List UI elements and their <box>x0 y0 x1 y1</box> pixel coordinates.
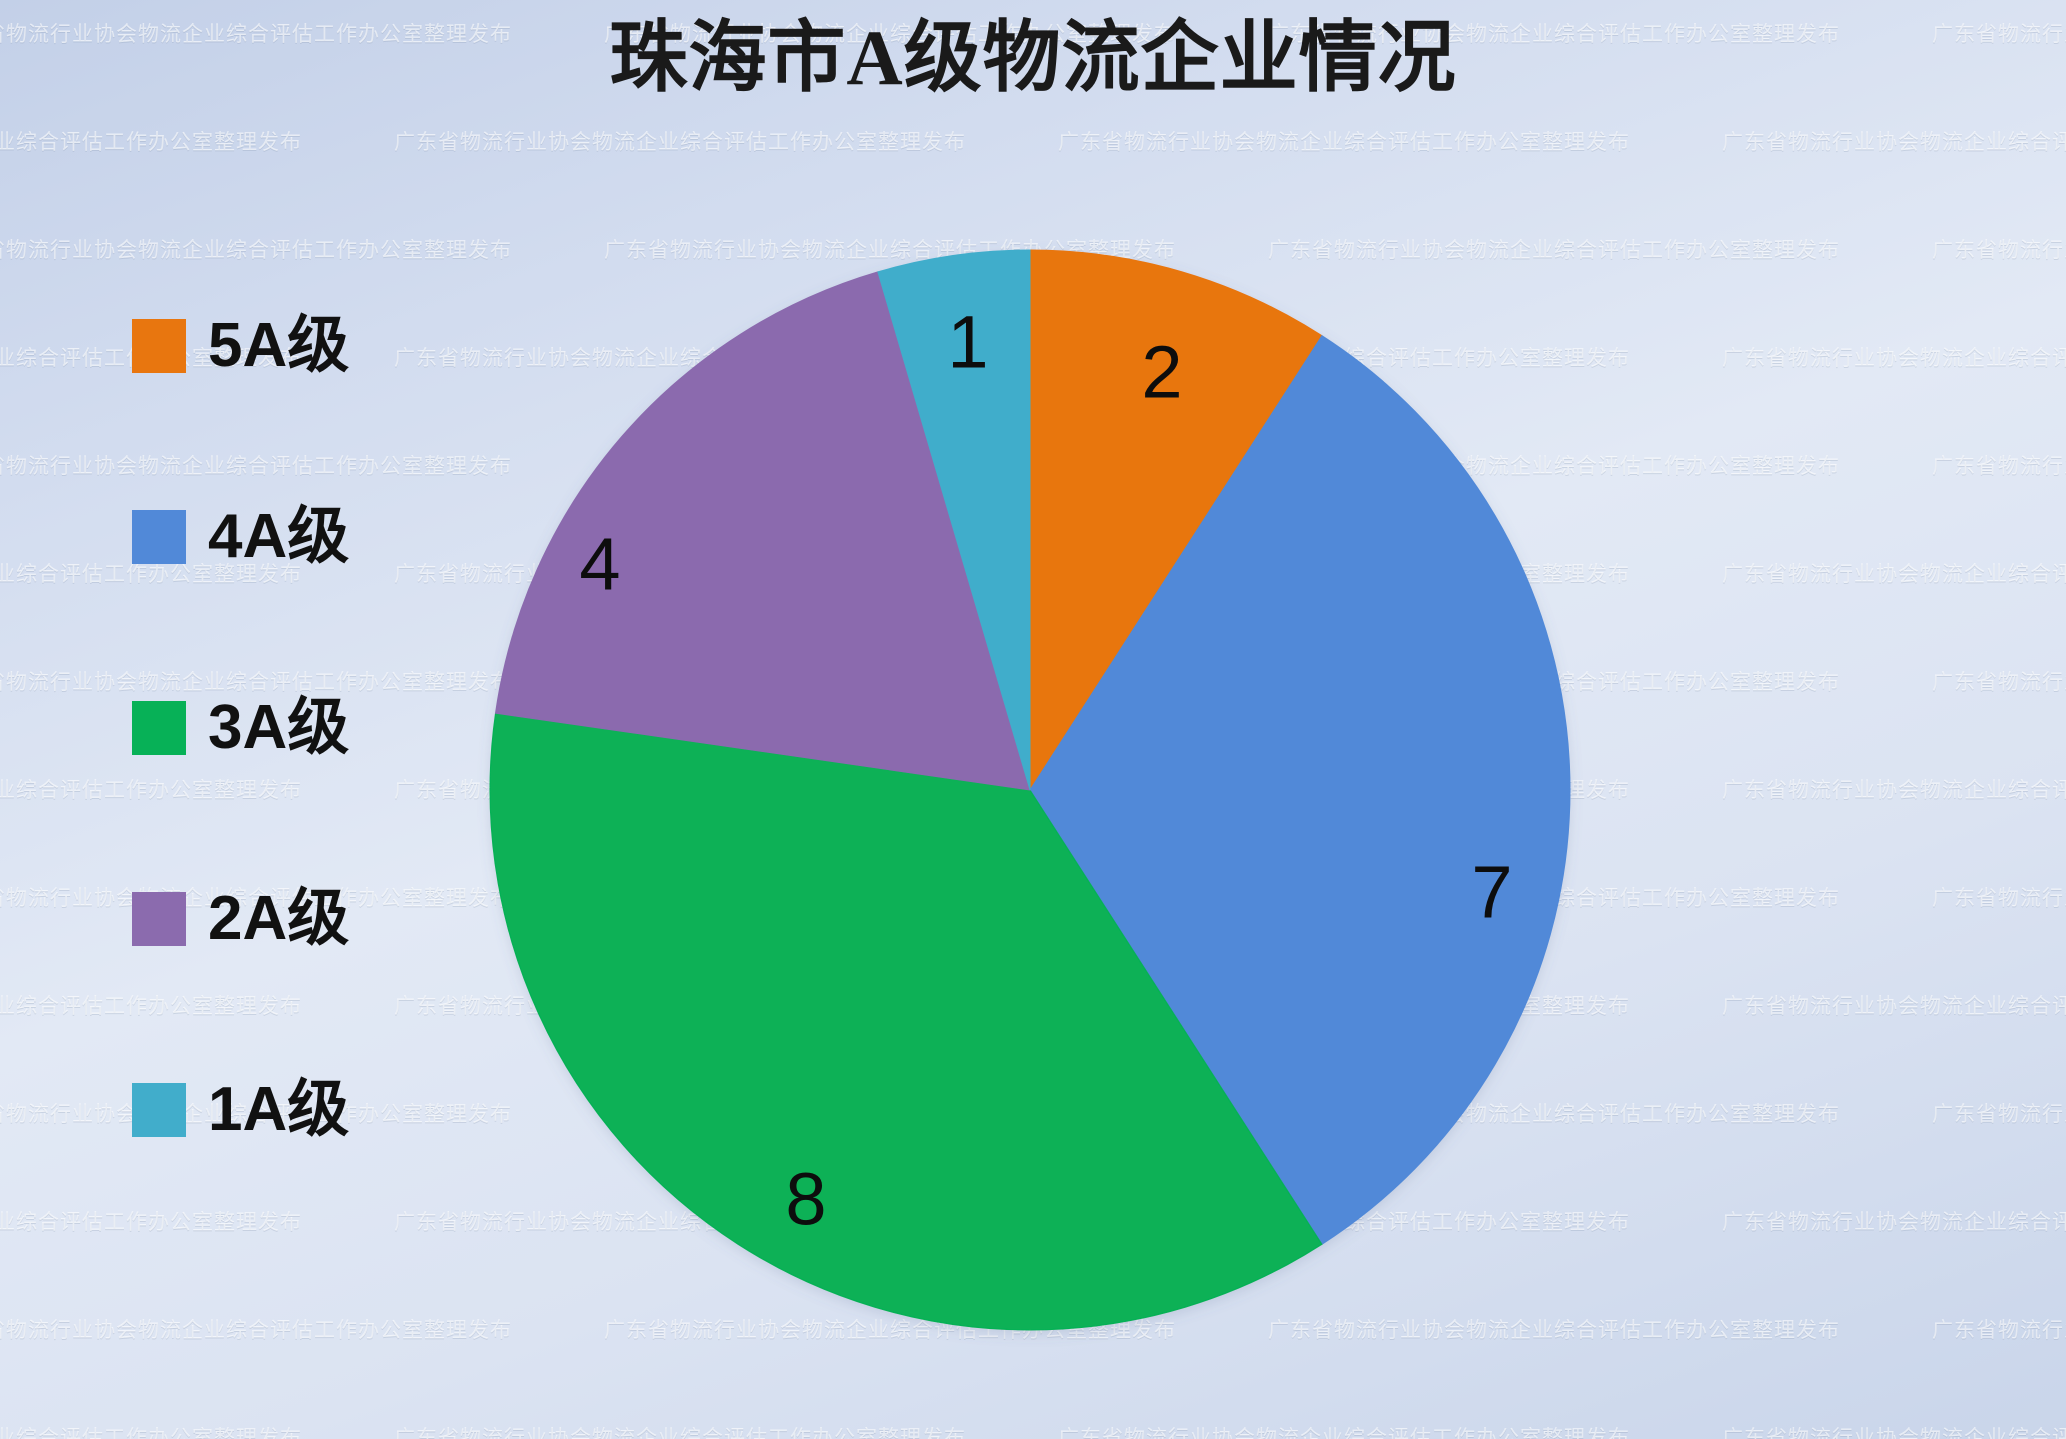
legend-item-label: 3A级 <box>208 697 349 759</box>
pie-slice-value-label: 2 <box>1141 331 1182 414</box>
legend-item-3a[interactable]: 3A级 <box>132 682 349 774</box>
legend-color-swatch-icon <box>132 1083 186 1137</box>
pie-slice-value-label: 7 <box>1471 851 1512 934</box>
legend-color-swatch-icon <box>132 510 186 564</box>
pie-slice-value-label: 1 <box>947 301 988 384</box>
legend-item-2a[interactable]: 2A级 <box>132 873 349 965</box>
legend-color-swatch-icon <box>132 701 186 755</box>
legend-item-1a[interactable]: 1A级 <box>132 1064 349 1156</box>
pie-slice-value-label: 4 <box>579 523 620 606</box>
pie-slices-group <box>490 250 1570 1330</box>
legend-color-swatch-icon <box>132 319 186 373</box>
legend-item-label: 1A级 <box>208 1079 349 1141</box>
legend-item-4a[interactable]: 4A级 <box>132 491 349 583</box>
chart-legend: 5A级4A级3A级2A级1A级 <box>132 300 349 1156</box>
page-title: 珠海市A级物流企业情况 <box>0 14 2066 101</box>
legend-item-5a[interactable]: 5A级 <box>132 300 349 392</box>
legend-item-label: 4A级 <box>208 506 349 568</box>
legend-item-label: 2A级 <box>208 888 349 950</box>
legend-item-label: 5A级 <box>208 315 349 377</box>
pie-slice-value-label: 8 <box>785 1158 826 1241</box>
legend-color-swatch-icon <box>132 892 186 946</box>
